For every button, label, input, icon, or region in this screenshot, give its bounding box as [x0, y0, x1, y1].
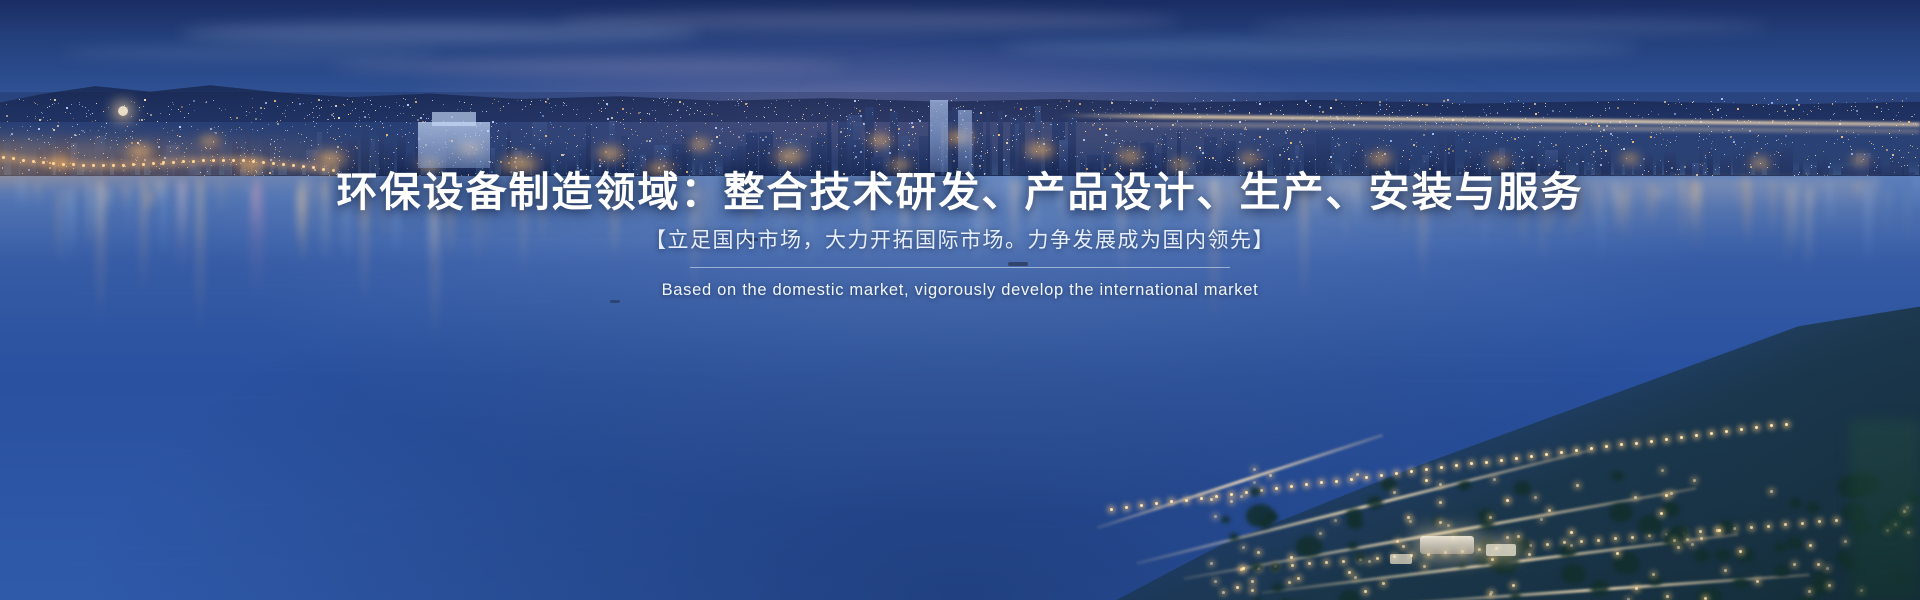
hero-banner: 环保设备制造领域：整合技术研发、产品设计、生产、安装与服务 【立足国内市场，大力…: [0, 0, 1920, 600]
left-shore-lights: [0, 0, 1920, 600]
